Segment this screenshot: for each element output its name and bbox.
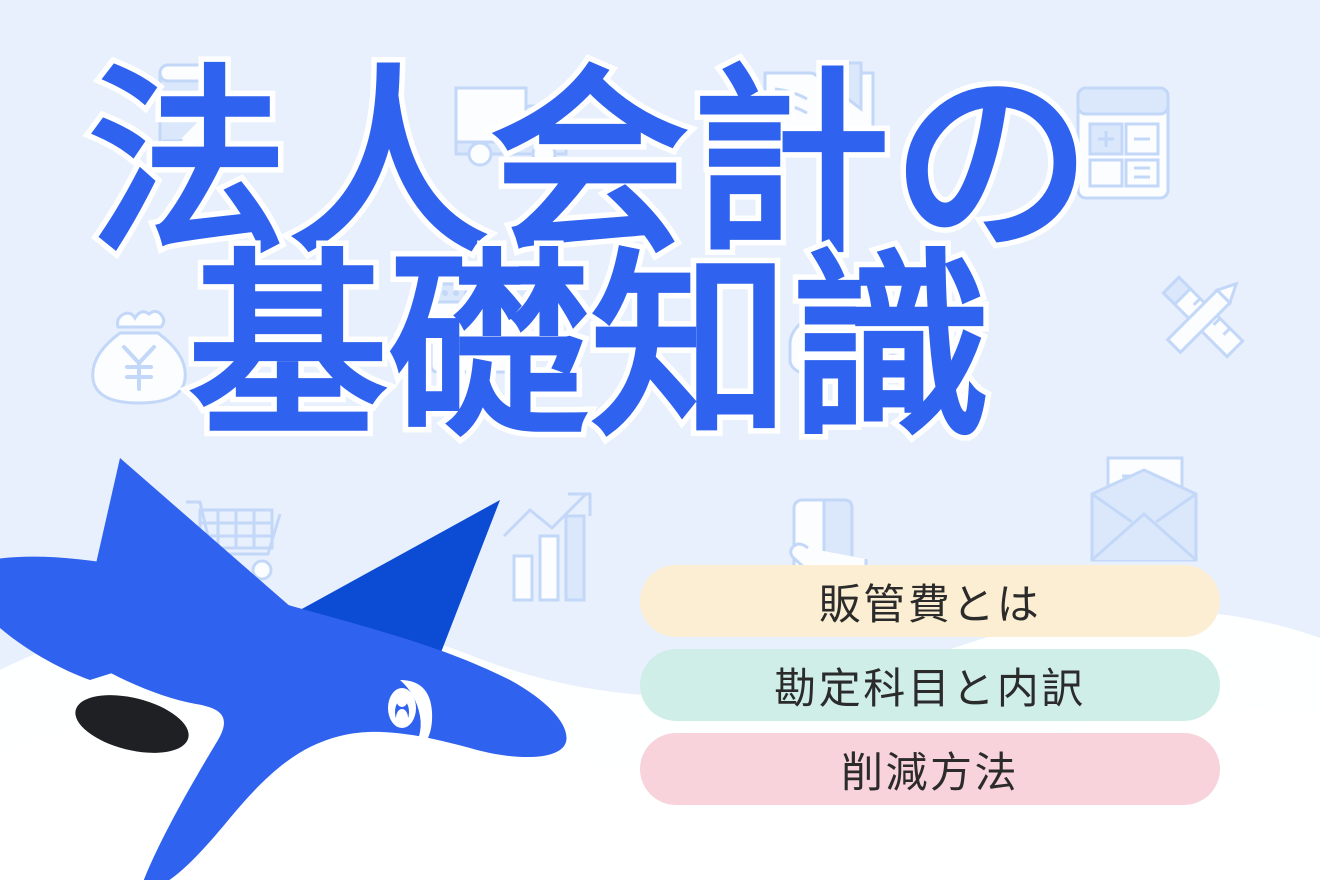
topic-pill-2[interactable]: 勘定科目と内訳 bbox=[640, 649, 1220, 721]
page-title: 法人会計の 基礎知識 bbox=[0, 70, 1180, 444]
topic-pill-1-label: 販管費とは bbox=[819, 571, 1042, 632]
topic-pill-1[interactable]: 販管費とは bbox=[640, 565, 1220, 637]
open-envelope-icon bbox=[1078, 452, 1218, 572]
topic-pill-2-label: 勘定科目と内訳 bbox=[774, 655, 1086, 716]
hero-banner: 法人会計の 基礎知識 販管費とは 勘定科目と内訳 削減方法 bbox=[0, 0, 1320, 880]
title-line-2: 基礎知識 bbox=[0, 254, 1180, 444]
blue-swallow-bird bbox=[0, 440, 630, 880]
topic-pill-3[interactable]: 削減方法 bbox=[640, 733, 1220, 805]
topic-list: 販管費とは 勘定科目と内訳 削減方法 bbox=[640, 565, 1220, 805]
topic-pill-3-label: 削減方法 bbox=[841, 739, 1019, 800]
